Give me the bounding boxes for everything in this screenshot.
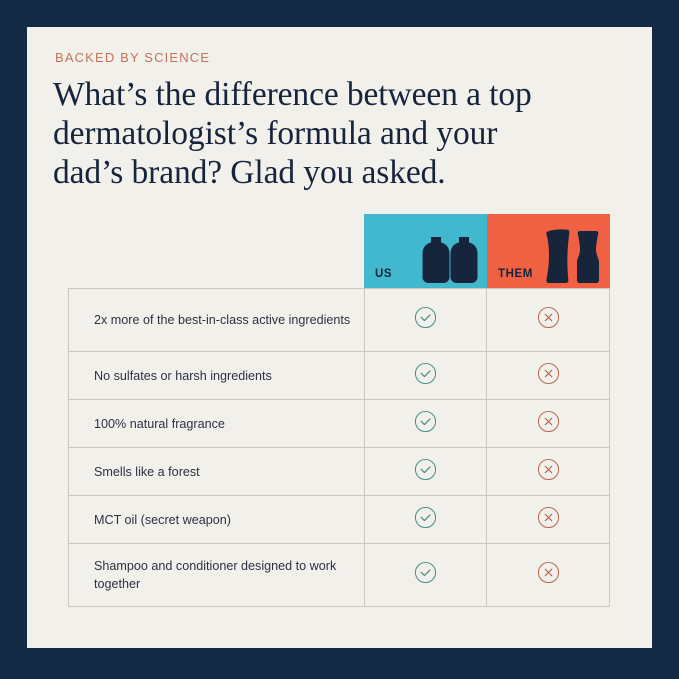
them-mark-cell xyxy=(486,496,609,543)
comparison-table: US THEM 2x more of t xyxy=(68,214,610,607)
us-mark-cell xyxy=(364,448,487,495)
us-mark-cell xyxy=(364,496,487,543)
cross-circle-icon xyxy=(537,410,560,438)
cross-circle-icon xyxy=(537,458,560,486)
us-mark-cell xyxy=(364,352,487,399)
comparison-card: BACKED BY SCIENCE What’s the difference … xyxy=(27,27,652,648)
feature-label: Smells like a forest xyxy=(69,448,364,495)
table-row: 2x more of the best-in-class active ingr… xyxy=(68,288,610,351)
check-circle-icon xyxy=(414,410,437,438)
check-circle-icon xyxy=(414,362,437,390)
cross-circle-icon xyxy=(537,362,560,390)
column-header-them-label: THEM xyxy=(498,268,533,280)
cross-circle-icon xyxy=(537,306,560,334)
two-round-bottles-icon xyxy=(421,227,479,288)
check-circle-icon xyxy=(414,506,437,534)
feature-label: 2x more of the best-in-class active ingr… xyxy=(69,289,364,351)
them-mark-cell xyxy=(486,352,609,399)
cross-circle-icon xyxy=(537,506,560,534)
us-mark-cell xyxy=(364,544,487,606)
check-circle-icon xyxy=(414,561,437,589)
headline-line-3: dad’s brand? Glad you asked. xyxy=(53,153,613,192)
headline-line-1: What’s the difference between a top xyxy=(53,75,613,114)
headline-line-2: dermatologist’s formula and your xyxy=(53,114,613,153)
table-row: MCT oil (secret weapon) xyxy=(68,495,610,543)
page-title: What’s the difference between a top derm… xyxy=(53,75,613,192)
them-mark-cell xyxy=(486,448,609,495)
feature-label: Shampoo and conditioner designed to work… xyxy=(69,544,364,606)
table-row: 100% natural fragrance xyxy=(68,399,610,447)
feature-label: MCT oil (secret weapon) xyxy=(69,496,364,543)
cross-circle-icon xyxy=(537,561,560,589)
them-mark-cell xyxy=(486,544,609,606)
check-circle-icon xyxy=(414,458,437,486)
table-header-row: US THEM xyxy=(364,214,610,288)
us-mark-cell xyxy=(364,289,487,351)
table-row: No sulfates or harsh ingredients xyxy=(68,351,610,399)
table-row: Smells like a forest xyxy=(68,447,610,495)
them-mark-cell xyxy=(486,289,609,351)
two-tapered-bottles-icon xyxy=(544,227,602,288)
check-circle-icon xyxy=(414,306,437,334)
table-row: Shampoo and conditioner designed to work… xyxy=(68,543,610,607)
them-mark-cell xyxy=(486,400,609,447)
feature-label: No sulfates or harsh ingredients xyxy=(69,352,364,399)
us-mark-cell xyxy=(364,400,487,447)
column-header-us-label: US xyxy=(375,268,392,280)
column-header-us: US xyxy=(364,214,487,288)
column-header-them: THEM xyxy=(487,214,610,288)
feature-label: 100% natural fragrance xyxy=(69,400,364,447)
eyebrow-label: BACKED BY SCIENCE xyxy=(55,50,210,65)
